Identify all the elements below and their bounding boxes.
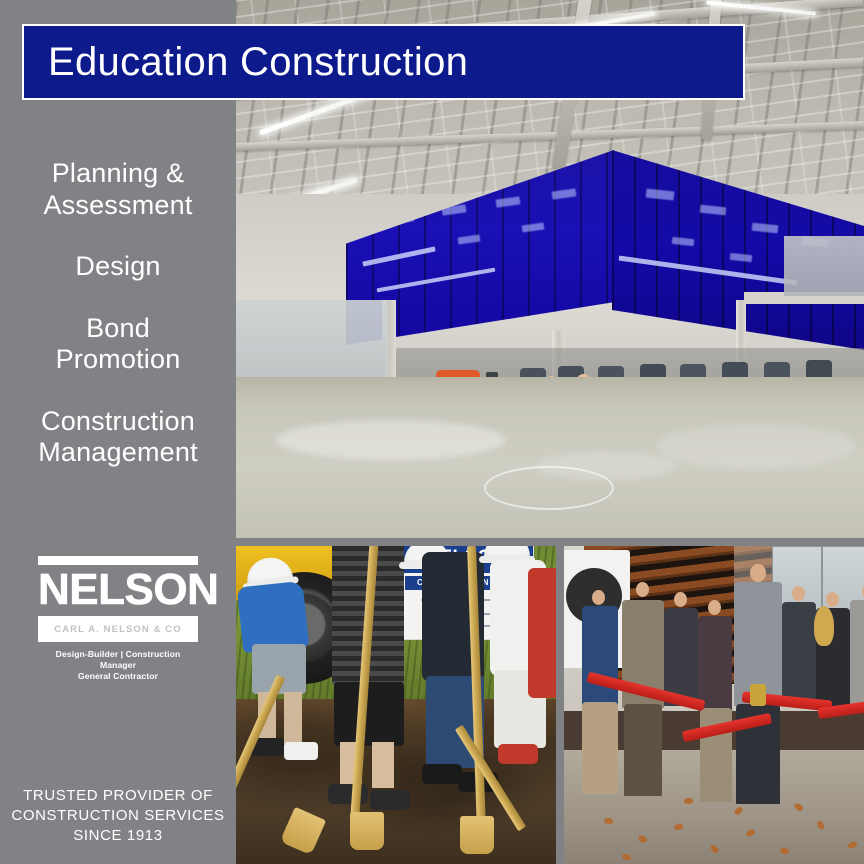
attendee-hair: [814, 606, 834, 646]
child-shoe: [370, 790, 410, 810]
service-item-construction-management[interactable]: Construction Management: [0, 406, 236, 469]
child-leg: [284, 692, 302, 744]
sidebar: Planning & Assessment Design Bond Promot…: [0, 0, 236, 864]
service-item-bond-promotion[interactable]: Bond Promotion: [0, 313, 236, 376]
company-logo[interactable]: NELSON CARL A. NELSON & CO Design-Builde…: [0, 556, 236, 684]
marketing-flyer-page: NELSON CARL A. NELSON & CO.: [0, 0, 864, 864]
title-banner: Education Construction: [22, 24, 745, 100]
floor-reflection-ring: [484, 466, 614, 510]
attendee: [582, 606, 618, 706]
logo-tagline: Design-Builder | Construction Manager Ge…: [38, 649, 198, 682]
logo-tagline-line2: General Contractor: [38, 671, 198, 682]
attendee-legs: [582, 702, 618, 794]
ceremonial-scissors: [750, 684, 766, 706]
child-shoe: [284, 742, 318, 760]
logo-tagline-line1: Design-Builder | Construction Manager: [38, 649, 198, 671]
child-leg: [372, 742, 394, 788]
ceremonial-shovel-blade: [350, 812, 384, 850]
footer-tagline: TRUSTED PROVIDER OF CONSTRUCTION SERVICE…: [0, 786, 236, 846]
hard-hat: [484, 546, 530, 560]
photo-groundbreaking-ceremony: NELSON CARL A. NELSON & CO.: [236, 546, 556, 864]
child-shirt: [237, 581, 310, 654]
photo-ribbon-cutting-ceremony: [564, 546, 864, 864]
attendee-head: [636, 582, 649, 597]
page-title: Education Construction: [24, 40, 468, 85]
child-shoe: [498, 744, 538, 764]
attendee-head: [750, 564, 766, 582]
attendee: [850, 600, 864, 704]
attendee-head: [592, 590, 605, 605]
balcony-glass: [784, 236, 864, 296]
child-shoe: [422, 764, 462, 784]
attendee-head: [792, 586, 805, 601]
service-list: Planning & Assessment Design Bond Promot…: [0, 158, 236, 469]
logo-wordmark: NELSON: [38, 567, 198, 613]
service-item-planning-assessment[interactable]: Planning & Assessment: [0, 158, 236, 221]
attendee: [782, 602, 816, 702]
child-shorts: [334, 682, 404, 746]
child-red-shirt: [528, 568, 556, 698]
attendee-head: [674, 592, 687, 607]
logo-subbar-text: CARL A. NELSON & CO: [54, 624, 182, 635]
ceremonial-shovel-blade: [460, 816, 494, 854]
attendee-head: [708, 600, 721, 615]
logo-subbar: CARL A. NELSON & CO: [38, 616, 198, 642]
logo-top-rule: [38, 556, 198, 565]
attendee-head: [826, 592, 839, 607]
attendee-legs: [624, 704, 662, 796]
attendee: [698, 616, 732, 712]
service-item-design[interactable]: Design: [0, 251, 236, 283]
child-shoe: [328, 784, 368, 804]
